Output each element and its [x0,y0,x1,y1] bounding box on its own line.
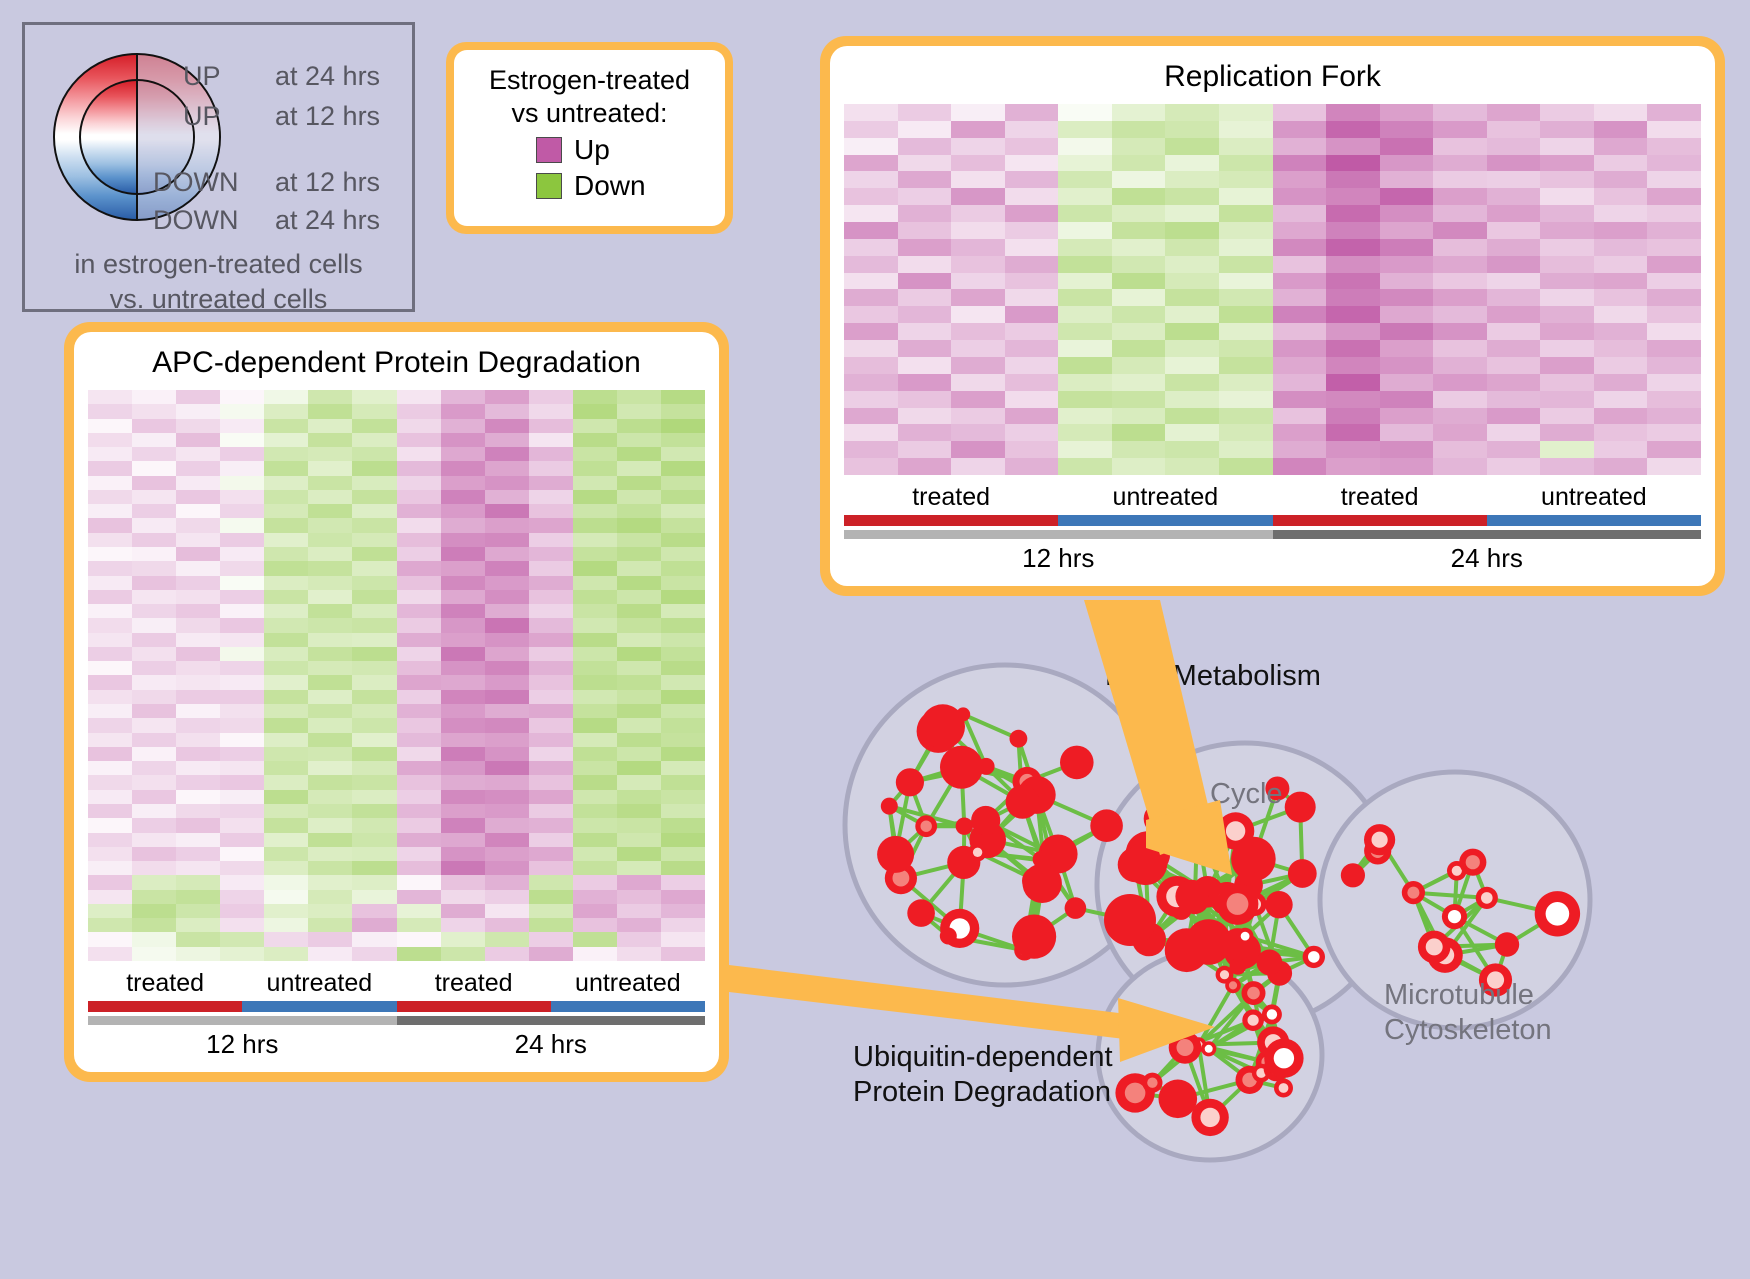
heatmap-cell [485,661,529,675]
heatmap-cell [617,604,661,618]
heatmap-cell [1647,222,1701,239]
heatmap-cell [1647,239,1701,256]
heatmap-cell [176,647,220,661]
heatmap-cell [485,633,529,647]
heatmap-cell [397,461,441,475]
heatmap-cell [176,747,220,761]
heatmap-cell [1058,205,1112,222]
heatmap-cell [1219,458,1273,475]
heatmap-cell [1380,121,1434,138]
heatmap-cell [352,718,396,732]
heatmap-cell [1594,424,1648,441]
heatmap-cell [485,818,529,832]
heatmap-cell [1487,222,1541,239]
network-node[interactable] [1288,859,1317,888]
heatmap-cell [308,690,352,704]
heatmap-cell [1326,155,1380,172]
legend-value-down-12: at 12 hrs [275,167,380,198]
axis-group-label: treated [844,483,1058,512]
heatmap-cell [529,718,573,732]
heatmap-cell [220,547,264,561]
heatmap-cell [844,374,898,391]
heatmap-cell [1540,340,1594,357]
heatmap-cell [898,256,952,273]
heatmap-cell [573,447,617,461]
heatmap-cell [308,775,352,789]
heatmap-cell [1112,273,1166,290]
heatmap-cell [352,504,396,518]
heatmap-cell [898,323,952,340]
heatmap-cell [1165,104,1219,121]
heatmap-cell [352,433,396,447]
network-node[interactable] [1124,842,1167,885]
heatmap-cell [529,818,573,832]
network-node[interactable] [1033,851,1050,868]
heatmap-cell [1433,188,1487,205]
heatmap-cell [1594,188,1648,205]
heatmap-cell [1273,104,1327,121]
heatmap-cell [264,604,308,618]
heatmap-cell [397,604,441,618]
network-node[interactable] [1104,894,1156,946]
heatmap-cell [264,561,308,575]
treatment-color-bar [1273,515,1487,526]
heatmap-cell [1005,188,1059,205]
heatmap-cell [617,547,661,561]
heatmap-cell [951,273,1005,290]
heatmap-cell [176,761,220,775]
network-node[interactable] [1495,932,1519,956]
heatmap-cell [1005,171,1059,188]
heatmap-cell [951,138,1005,155]
heatmap-cell [88,818,132,832]
heatmap-cell [308,419,352,433]
network-node[interactable] [978,758,995,775]
heatmap-cell [617,661,661,675]
heatmap-cell [88,561,132,575]
heatmap-cell [617,890,661,904]
heatmap-cell [308,661,352,675]
heatmap-cell [1433,289,1487,306]
heatmap-cell [397,818,441,832]
network-node-core [1426,938,1443,955]
heatmap-cell [132,790,176,804]
heatmap-cell [485,476,529,490]
heatmap-cell [1273,273,1327,290]
heatmap-cell [264,690,308,704]
heatmap-cell [1540,104,1594,121]
heatmap-cell [573,847,617,861]
heatmap-cell [1005,306,1059,323]
heatmap-cell [951,205,1005,222]
heatmap-cell [176,661,220,675]
heatmap-cell [220,404,264,418]
network-node[interactable] [1265,891,1292,918]
heatmap-cell [617,932,661,946]
heatmap-cell [1433,104,1487,121]
heatmap-cell [1594,171,1648,188]
heatmap-cell [1112,239,1166,256]
network-node[interactable] [881,798,898,815]
heatmap-cell [573,490,617,504]
heatmap-cell [88,518,132,532]
heatmap-cell [617,561,661,575]
heatmap-cell [617,918,661,932]
heatmap-cell [441,504,485,518]
heatmap-cell [132,518,176,532]
heatmap-cell [1112,340,1166,357]
heatmap-cell [220,761,264,775]
heatmap-cell [573,518,617,532]
heatmap-cell [132,861,176,875]
heatmap-cell [441,675,485,689]
network-node[interactable] [940,928,957,945]
heatmap-cell [573,547,617,561]
heatmap-cell [441,404,485,418]
heatmap-cell [88,947,132,961]
heatmap-cell [1540,138,1594,155]
heatmap-cell [176,476,220,490]
heatmap-cell [1005,138,1059,155]
heatmap-cell [661,518,705,532]
heatmap-cell [264,518,308,532]
heatmap-cell [1594,222,1648,239]
heatmap-cell [308,704,352,718]
heatmap-cell [485,419,529,433]
heatmap-cell [308,433,352,447]
heatmap-cell [1165,256,1219,273]
heatmap-cell [951,441,1005,458]
heatmap-cell [88,718,132,732]
heatmap-cell [573,604,617,618]
heatmap-cell [1594,458,1648,475]
legend-value-up-12: at 12 hrs [275,101,380,132]
heatmap-cell [1326,256,1380,273]
heatmap-cell [1647,441,1701,458]
network-node[interactable] [1023,864,1062,903]
heatmap-cell [1326,340,1380,357]
heatmap-cell [1219,289,1273,306]
heatmap-cell [485,547,529,561]
heatmap-cell [176,419,220,433]
heatmap-cell [1647,104,1701,121]
heatmap-cell [88,747,132,761]
network-node[interactable] [896,768,924,796]
heatmap-cell [617,518,661,532]
heatmap-cell [1326,239,1380,256]
heatmap-cell [308,404,352,418]
heatmap-cell [132,490,176,504]
heatmap-cell [88,861,132,875]
heatmap-cell [397,490,441,504]
heatmap-cell [529,390,573,404]
heatmap-cell [1005,239,1059,256]
heatmap-cell [1380,273,1434,290]
heatmap-cell [661,918,705,932]
heatmap-cell [264,833,308,847]
network-node[interactable] [1010,730,1028,748]
heatmap-cell [1594,256,1648,273]
heatmap-cell [352,647,396,661]
network-node[interactable] [956,818,973,835]
heatmap-cell [844,104,898,121]
heatmap-cell [1219,155,1273,172]
legend-footer-line1: in estrogen-treated cells [25,247,412,282]
heatmap-cell [529,675,573,689]
heatmap-cell [529,604,573,618]
heatmap-cell [132,833,176,847]
heatmap-cell [898,171,952,188]
up-color-swatch [536,137,562,163]
network-node[interactable] [1230,958,1247,975]
heatmap-cell [176,561,220,575]
network-node[interactable] [877,836,914,873]
heatmap-cell [661,461,705,475]
heatmap-cell [1326,171,1380,188]
heatmap-cell [308,647,352,661]
heatmap-cell [1433,138,1487,155]
heatmap-cell [1326,306,1380,323]
heatmap-cell [264,404,308,418]
heatmap-cell [220,947,264,961]
heatmap-cell [898,408,952,425]
heatmap-cell [617,690,661,704]
heatmap-cell [844,222,898,239]
heatmap-cell [844,408,898,425]
heatmap-cell [1165,340,1219,357]
heatmap-cell [352,404,396,418]
heatmap-cell [308,590,352,604]
heatmap-cell [1487,104,1541,121]
heatmap-cell [844,424,898,441]
heatmap-cell [264,861,308,875]
heatmap-cell [529,618,573,632]
heatmap-cell [661,690,705,704]
heatmap-cell [88,419,132,433]
heatmap-cell [88,447,132,461]
heatmap-cell [264,490,308,504]
heatmap-cell [176,590,220,604]
heatmap-cell [176,790,220,804]
heatmap-cell [485,875,529,889]
network-node[interactable] [1341,863,1365,887]
heatmap-cell [132,733,176,747]
heatmap-cell [1165,306,1219,323]
heatmap-cell [1273,239,1327,256]
network-node[interactable] [1012,915,1056,959]
heatmap-cell [176,433,220,447]
network-node[interactable] [1186,919,1232,965]
heatmap-cell [1540,222,1594,239]
heatmap-cell [308,633,352,647]
heatmap-cell [1594,289,1648,306]
axis-time-bar-apc [88,1016,705,1025]
treatment-color-bar [551,1001,705,1012]
network-node[interactable] [1006,785,1040,819]
time-color-bar [88,1016,397,1025]
heatmap-cell [220,733,264,747]
heatmap-cell [1273,340,1327,357]
heatmap-cell [441,718,485,732]
heatmap-cell [220,690,264,704]
heatmap-cell [1165,239,1219,256]
heatmap-cell [88,604,132,618]
heatmap-cell [1165,273,1219,290]
heatmap-cell [308,861,352,875]
heatmap-cell [1433,458,1487,475]
heatmap-cell [352,761,396,775]
heatmap-cell [661,818,705,832]
heatmap-cell [220,618,264,632]
heatmap-cell [220,904,264,918]
heatmap-cell [88,618,132,632]
heatmap-cell [1005,408,1059,425]
heatmap-cell [441,690,485,704]
heatmap-cell [951,188,1005,205]
heatmap-cell [1058,104,1112,121]
heatmap-cell [617,490,661,504]
heatmap-cell [1058,458,1112,475]
heatmap-cell [352,747,396,761]
down-label: Down [574,170,646,202]
heatmap-cell [485,790,529,804]
network-node[interactable] [1065,897,1087,919]
heatmap-cell [898,121,952,138]
heatmap-cell [132,447,176,461]
heatmap-cell [1219,441,1273,458]
heatmap-cell [1219,205,1273,222]
heatmap-cell [529,775,573,789]
heatmap-cell [264,761,308,775]
heatmap-cell [308,604,352,618]
network-node-core [1308,951,1320,963]
heatmap-cell [441,733,485,747]
heatmap-cell [617,847,661,861]
heatmap-cell [1647,374,1701,391]
heatmap-cell [617,761,661,775]
heatmap-cell [1005,121,1059,138]
heatmap-cell [485,761,529,775]
heatmap-cell [898,239,952,256]
heatmap-cell [441,932,485,946]
heatmap-cell [573,633,617,647]
network-node[interactable] [940,746,983,789]
heatmap-cell [397,704,441,718]
heatmap-cell [1540,121,1594,138]
heatmap-cell [1647,121,1701,138]
heatmap-cell [308,818,352,832]
heatmap-cell [308,890,352,904]
heatmap-cell [264,718,308,732]
heatmap-cell [1005,424,1059,441]
heatmap-cell [1112,205,1166,222]
heatmap-cell [1273,374,1327,391]
heatmap-cell [529,947,573,961]
heatmap-cell [220,661,264,675]
heatmap-cell [1165,357,1219,374]
heatmap-cell [397,476,441,490]
network-node[interactable] [1060,746,1094,780]
heatmap-cell [397,433,441,447]
network-node[interactable] [1180,810,1214,844]
heatmap-cell [1112,138,1166,155]
network-diagram: DNA Metabolism Cell Cycle Microtubule Cy… [790,600,1750,1279]
heatmap-cell [1487,340,1541,357]
axis-replication: treateduntreatedtreateduntreated 12 hrs2… [844,483,1701,574]
network-node[interactable] [971,806,1000,835]
network-node-core [1177,1039,1194,1056]
heatmap-cell [661,476,705,490]
heatmap-cell [220,504,264,518]
heatmap-cell [1112,374,1166,391]
heatmap-cell [1594,408,1648,425]
heatmap-cell [220,561,264,575]
heatmap-cell [1380,155,1434,172]
network-node[interactable] [907,899,935,927]
heatmap-cell [1165,171,1219,188]
heatmap-cell [573,461,617,475]
heatmap-cell [176,875,220,889]
network-node[interactable] [921,704,965,748]
heatmap-cell [176,547,220,561]
heatmap-cell [529,547,573,561]
axis-treatment-bar-replication [844,515,1701,526]
heatmap-cell [1112,408,1166,425]
heatmap-cell [529,890,573,904]
heatmap-cell [1380,222,1434,239]
network-node[interactable] [1181,886,1209,914]
heatmap-cell [529,733,573,747]
heatmap-cell [1058,256,1112,273]
heatmap-cell [1540,205,1594,222]
network-node[interactable] [1159,1080,1198,1119]
network-node[interactable] [1090,809,1123,842]
network-node[interactable] [1257,950,1283,976]
heatmap-cell [308,675,352,689]
heatmap-cell [397,547,441,561]
heatmap-cell [88,647,132,661]
network-node[interactable] [1285,792,1316,823]
heatmap-cell [1326,424,1380,441]
updown-title-line2: vs untreated: [464,97,715,130]
heatmap-cell [661,504,705,518]
heatmap-cell [132,932,176,946]
heatmap-cell [485,690,529,704]
heatmap-cell [1005,155,1059,172]
microtubule-line1: Microtubule [1384,978,1552,1013]
heatmap-cell [898,424,952,441]
heatmap-cell [1433,323,1487,340]
heatmap-cell [1326,104,1380,121]
heatmap-cell [397,633,441,647]
heatmap-cell [661,419,705,433]
heatmap-cell [485,675,529,689]
heatmap-cell [1273,138,1327,155]
heatmap-cell [1487,306,1541,323]
heatmap-cell [1165,222,1219,239]
heatmap-cell [397,675,441,689]
heatmap-cell [529,847,573,861]
heatmap-cell [573,661,617,675]
heatmap-cell [88,932,132,946]
heatmap-cell [1005,323,1059,340]
heatmap-cell [1165,155,1219,172]
heatmap-cell [529,419,573,433]
heatmap-cell [132,576,176,590]
legend-value-down-24: at 24 hrs [275,205,380,236]
heatmap-cell [1540,391,1594,408]
heatmap-cell [1380,424,1434,441]
